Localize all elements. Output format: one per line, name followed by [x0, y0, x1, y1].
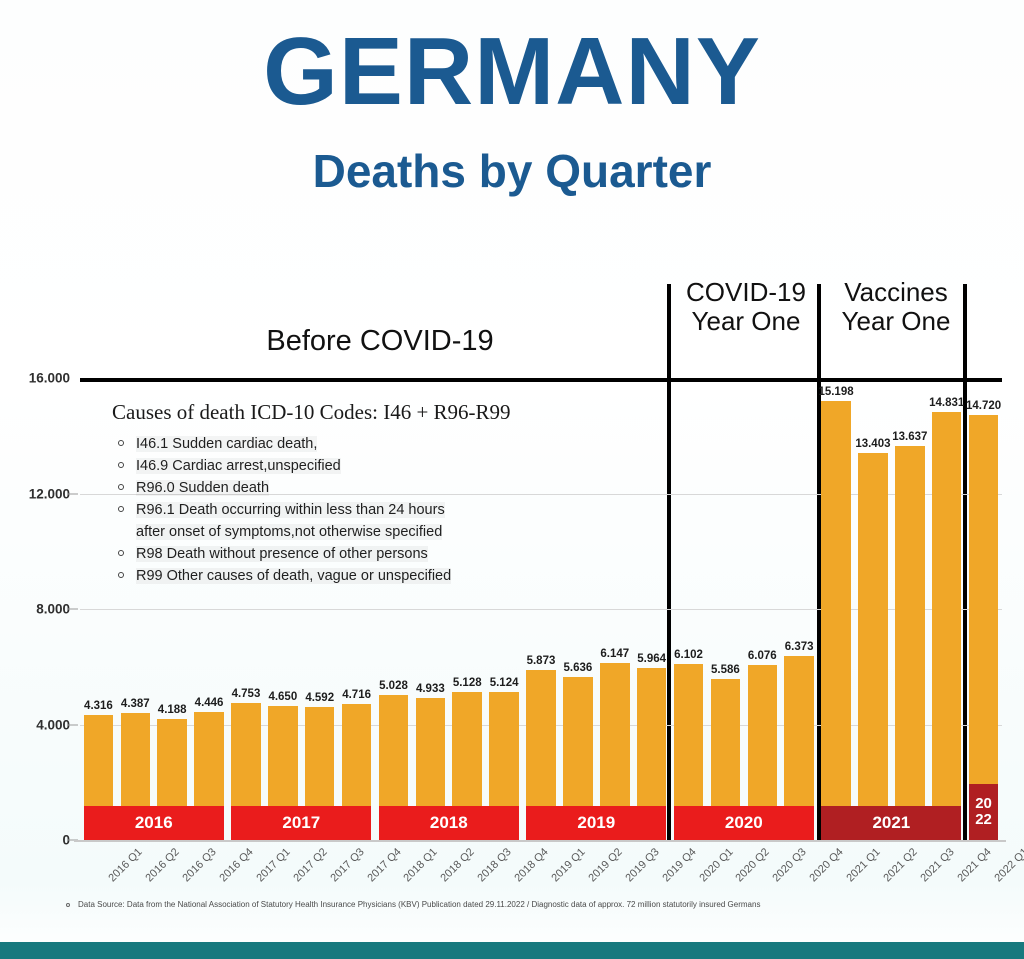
y-axis-tick-mark — [68, 493, 78, 494]
bar-slot: 13.637 — [895, 378, 925, 840]
x-axis-tick-label: 2016 Q3 — [181, 846, 219, 884]
x-axis-tick-label: 2020 Q2 — [734, 846, 772, 884]
bar-slot: 6.102 — [674, 378, 704, 840]
year-band: 2021 — [821, 806, 961, 840]
bar-value-label: 4.650 — [268, 691, 297, 703]
bar-value-label: 5.128 — [453, 677, 482, 689]
x-axis-tick-label: 2021 Q3 — [918, 846, 956, 884]
bar-slot: 13.403 — [858, 378, 888, 840]
cause-list-item-label: R96.1 Death occurring within less than 2… — [136, 502, 445, 518]
bar-slot: 6.373 — [784, 378, 814, 840]
bar-value-label: 5.124 — [490, 677, 519, 689]
page-subtitle: Deaths by Quarter — [0, 148, 1024, 194]
cause-list-item-label: I46.1 Sudden cardiac death, — [136, 436, 317, 452]
bar[interactable] — [858, 453, 888, 840]
y-axis-tick-mark — [68, 609, 78, 610]
cause-list-item: R98 Death without presence of other pers… — [112, 543, 652, 565]
year-band: 2017 — [231, 806, 371, 840]
cause-list-item-label: after onset of symptoms,not otherwise sp… — [136, 524, 442, 540]
causes-of-death-legend: Causes of death ICD-10 Codes: I46 + R96-… — [112, 400, 652, 587]
bar-value-label: 5.636 — [563, 662, 592, 674]
x-axis-tick-label: 2017 Q3 — [328, 846, 366, 884]
bar-value-label: 4.753 — [232, 688, 261, 700]
footnote-bullet-icon — [66, 903, 70, 907]
x-axis-tick-label: 2018 Q4 — [512, 846, 550, 884]
y-axis-tick-label: 0 — [0, 833, 70, 848]
x-axis-tick-label: 2018 Q3 — [476, 846, 514, 884]
cause-list-item: R99 Other causes of death, vague or unsp… — [112, 565, 652, 587]
bar-value-label: 6.076 — [748, 650, 777, 662]
bar-value-label: 6.147 — [600, 648, 629, 660]
year-band: 2016 — [84, 806, 224, 840]
x-axis-tick-label: 2020 Q3 — [771, 846, 809, 884]
year-band: 2019 — [526, 806, 666, 840]
x-axis-tick-label: 2019 Q3 — [623, 846, 661, 884]
cause-list-item-label: R96.0 Sudden death — [136, 480, 269, 496]
x-axis-tick-label: 2021 Q2 — [881, 846, 919, 884]
x-axis-tick-label: 2017 Q2 — [291, 846, 329, 884]
bar-value-label: 15.198 — [818, 386, 853, 398]
x-axis-tick-label: 2017 Q4 — [365, 846, 403, 884]
data-source-footnote: Data Source: Data from the National Asso… — [66, 900, 966, 909]
bar-value-label: 13.637 — [892, 431, 927, 443]
x-axis-tick-label: 2021 Q4 — [955, 846, 993, 884]
year-band: 20 22 — [969, 784, 999, 840]
bullet-icon — [118, 484, 124, 490]
bottom-accent-strip — [0, 942, 1024, 959]
bar-slot: 4.316 — [84, 378, 114, 840]
causes-title: Causes of death ICD-10 Codes: I46 + R96-… — [112, 400, 652, 425]
bar-value-label: 5.873 — [527, 655, 556, 667]
bar-value-label: 4.316 — [84, 700, 113, 712]
cause-list-item-label: I46.9 Cardiac arrest,unspecified — [136, 458, 341, 474]
bar-value-label: 14.720 — [966, 400, 1001, 412]
bullet-icon — [118, 572, 124, 578]
x-axis-tick-label: 2020 Q4 — [808, 846, 846, 884]
cause-list-item: R96.1 Death occurring within less than 2… — [112, 499, 652, 521]
x-axis-tick-label: 2018 Q2 — [439, 846, 477, 884]
bar-slot: 6.076 — [748, 378, 778, 840]
bar-value-label: 5.028 — [379, 680, 408, 692]
page-title: GERMANY — [0, 24, 1024, 120]
cause-list-item-label: R99 Other causes of death, vague or unsp… — [136, 568, 451, 584]
x-axis-tick-label: 2016 Q1 — [107, 846, 145, 884]
x-axis-tick-label: 2020 Q1 — [697, 846, 735, 884]
bullet-icon — [118, 440, 124, 446]
bullet-icon — [118, 550, 124, 556]
x-axis-tick-label: 2019 Q4 — [660, 846, 698, 884]
bar-value-label: 4.716 — [342, 689, 371, 701]
cause-list-item-label: R98 Death without presence of other pers… — [136, 546, 428, 562]
bar-value-label: 4.592 — [305, 692, 334, 704]
bar[interactable] — [895, 446, 925, 840]
bar-value-label: 4.933 — [416, 683, 445, 695]
bar[interactable] — [821, 401, 851, 840]
year-band: 2020 — [674, 806, 814, 840]
bar-slot: 14.831 — [932, 378, 962, 840]
y-axis-tick-label: 8.000 — [0, 602, 70, 617]
section-label-covid-year-one: COVID-19 Year One — [672, 278, 820, 336]
bar-slot: 5.586 — [711, 378, 741, 840]
y-axis-tick-label: 12.000 — [0, 486, 70, 501]
section-label-before-covid: Before COVID-19 — [150, 325, 610, 357]
bar[interactable] — [932, 412, 962, 840]
cause-list-item: I46.9 Cardiac arrest,unspecified — [112, 455, 652, 477]
causes-list: I46.1 Sudden cardiac death,I46.9 Cardiac… — [112, 433, 652, 587]
section-label-vaccines-year-one: Vaccines Year One — [826, 278, 966, 336]
bullet-icon — [118, 462, 124, 468]
bullet-icon — [118, 506, 124, 512]
cause-list-item: I46.1 Sudden cardiac death, — [112, 433, 652, 455]
bar-value-label: 6.373 — [785, 641, 814, 653]
bar-value-label: 4.387 — [121, 698, 150, 710]
x-axis-tick-label: 2019 Q1 — [549, 846, 587, 884]
bar-slot: 15.198 — [821, 378, 851, 840]
bar-slot: 14.720 — [969, 378, 999, 840]
y-axis-tick-label: 4.000 — [0, 717, 70, 732]
bar-value-label: 5.586 — [711, 664, 740, 676]
x-axis-tick-label: 2016 Q4 — [217, 846, 255, 884]
y-axis-tick-label: 16.000 — [0, 371, 70, 386]
bar[interactable] — [969, 415, 999, 840]
axis-baseline — [74, 840, 1006, 842]
footnote-text: Data Source: Data from the National Asso… — [78, 900, 760, 909]
cause-list-item: after onset of symptoms,not otherwise sp… — [112, 521, 652, 543]
year-band: 2018 — [379, 806, 519, 840]
bar-value-label: 4.188 — [158, 704, 187, 716]
x-axis-tick-label: 2016 Q2 — [144, 846, 182, 884]
x-axis-tick-label: 2018 Q1 — [402, 846, 440, 884]
bar-value-label: 14.831 — [929, 397, 964, 409]
bar-value-label: 4.446 — [195, 697, 224, 709]
infographic-page: GERMANY Deaths by Quarter Before COVID-1… — [0, 0, 1024, 959]
x-axis-tick-label: 2019 Q2 — [586, 846, 624, 884]
y-axis-tick-mark — [68, 724, 78, 725]
x-axis-tick-label: 2017 Q1 — [254, 846, 292, 884]
cause-list-item: R96.0 Sudden death — [112, 477, 652, 499]
x-axis-tick-label: 2021 Q1 — [844, 846, 882, 884]
bar-value-label: 5.964 — [637, 653, 666, 665]
x-axis-tick-label: 2022 Q1 — [992, 846, 1024, 884]
bar-value-label: 6.102 — [674, 649, 703, 661]
bar-value-label: 13.403 — [855, 438, 890, 450]
